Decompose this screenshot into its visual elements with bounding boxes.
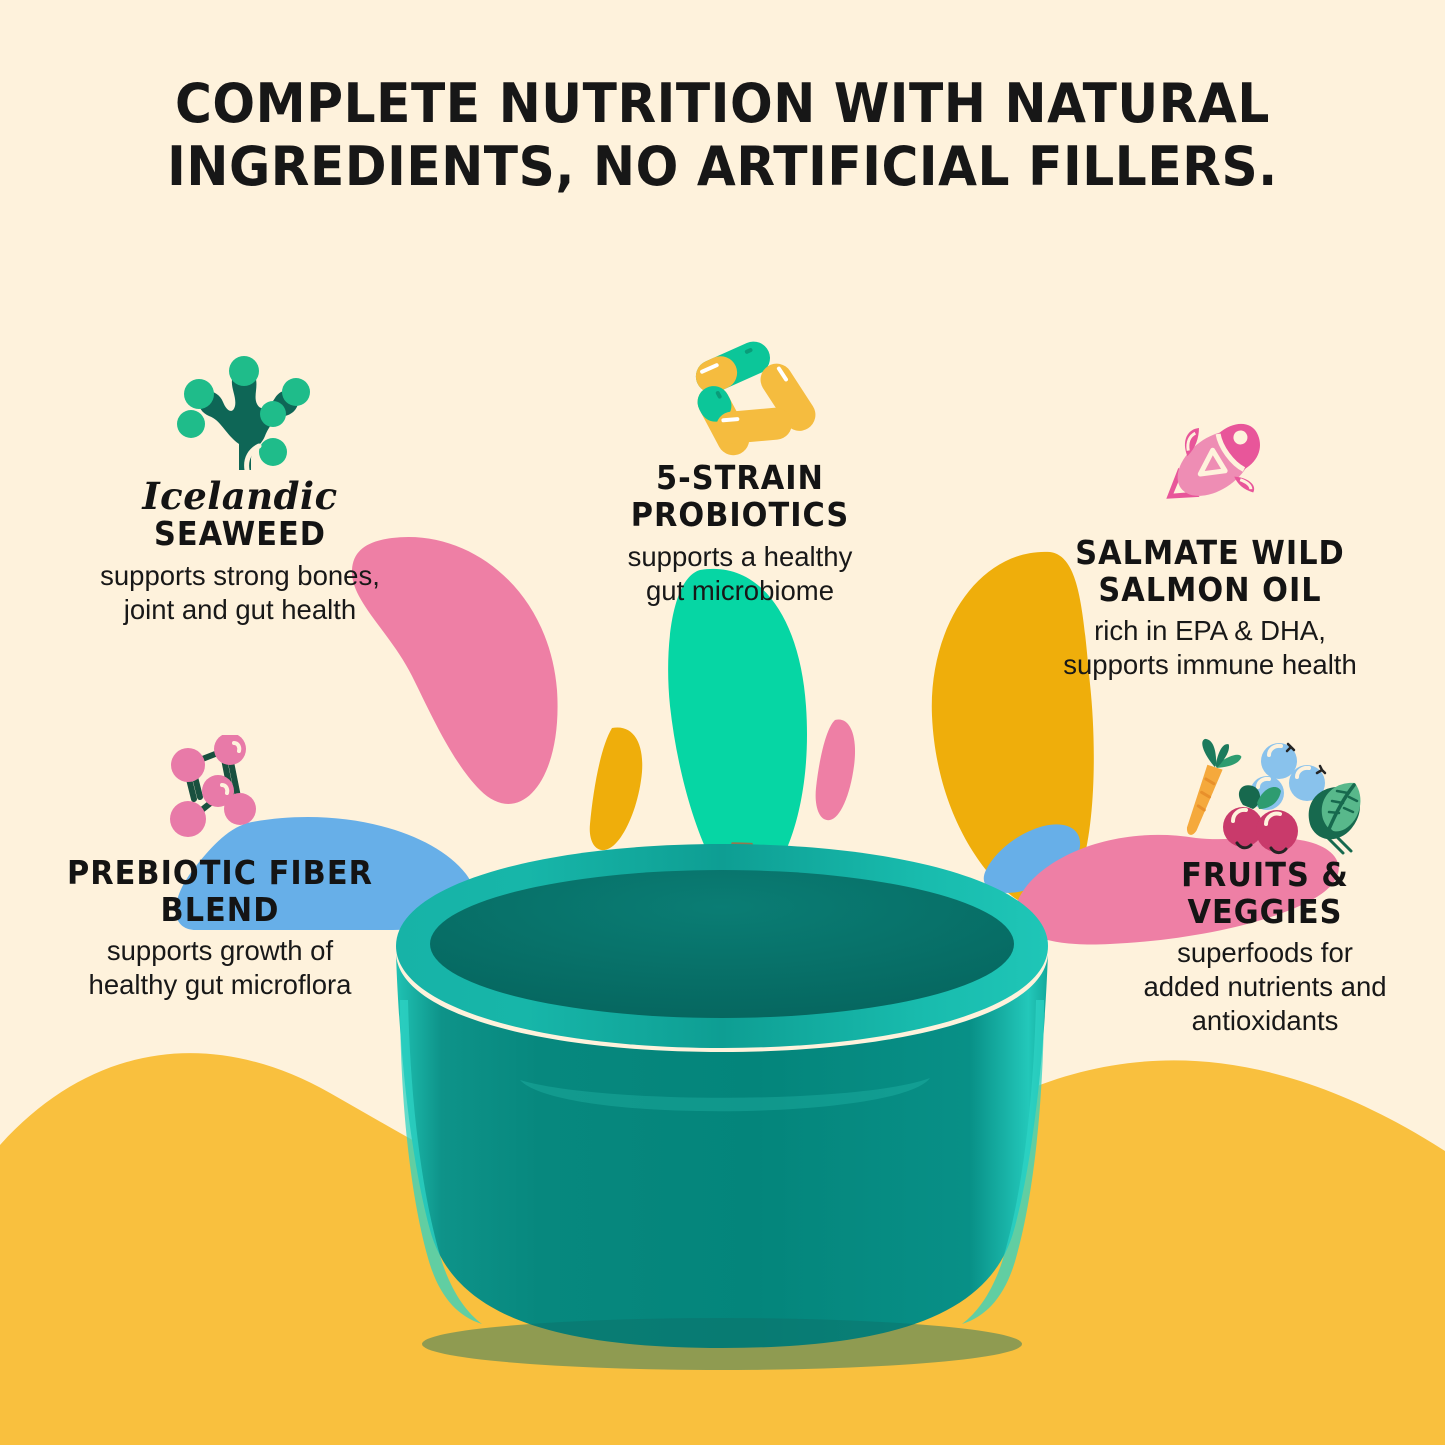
feature-salmon: SALMATE WILD SALMON OIL rich in EPA & DH… — [1010, 405, 1410, 682]
feature-probiotics: 5-STRAIN PROBIOTICS supports a healthy g… — [530, 330, 950, 608]
probiotic-capsules-icon — [660, 330, 820, 460]
molecule-icon — [150, 735, 290, 855]
feature-fiber-description: supports growth of healthy gut microflor… — [10, 934, 430, 1002]
feature-seaweed-title: SEAWEED — [47, 516, 433, 553]
feature-fiber: PREBIOTIC FIBER BLEND supports growth of… — [10, 735, 430, 1002]
feature-seaweed-script: Icelandic — [30, 477, 450, 516]
feature-fruits: FRUITS & VEGGIES superfoods for added nu… — [1090, 735, 1440, 1038]
feature-probiotics-title: 5-STRAIN PROBIOTICS — [547, 460, 933, 534]
feature-fruits-description: superfoods for added nutrients and antio… — [1090, 936, 1440, 1038]
feature-seaweed-description: supports strong bones, joint and gut hea… — [30, 559, 450, 627]
salmon-fish-icon — [1140, 405, 1280, 535]
infographic-canvas: COMPLETE NUTRITION WITH NATURAL INGREDIE… — [0, 0, 1445, 1445]
feature-seaweed: Icelandic SEAWEED supports strong bones,… — [30, 352, 450, 627]
feature-fiber-title: PREBIOTIC FIBER BLEND — [27, 855, 413, 929]
seaweed-icon — [165, 352, 315, 477]
feature-probiotics-description: supports a healthy gut microbiome — [530, 540, 950, 608]
dog-food-bowl — [396, 844, 1048, 1370]
feature-salmon-description: rich in EPA & DHA, supports immune healt… — [1010, 614, 1410, 682]
splash-and-bowl-illustration — [0, 0, 1445, 1445]
feature-fruits-title: FRUITS & VEGGIES — [1104, 857, 1426, 931]
feature-salmon-title: SALMATE WILD SALMON OIL — [1026, 535, 1394, 609]
fruits-veggies-icon — [1165, 735, 1365, 857]
page-headline: COMPLETE NUTRITION WITH NATURAL INGREDIE… — [51, 72, 1395, 198]
